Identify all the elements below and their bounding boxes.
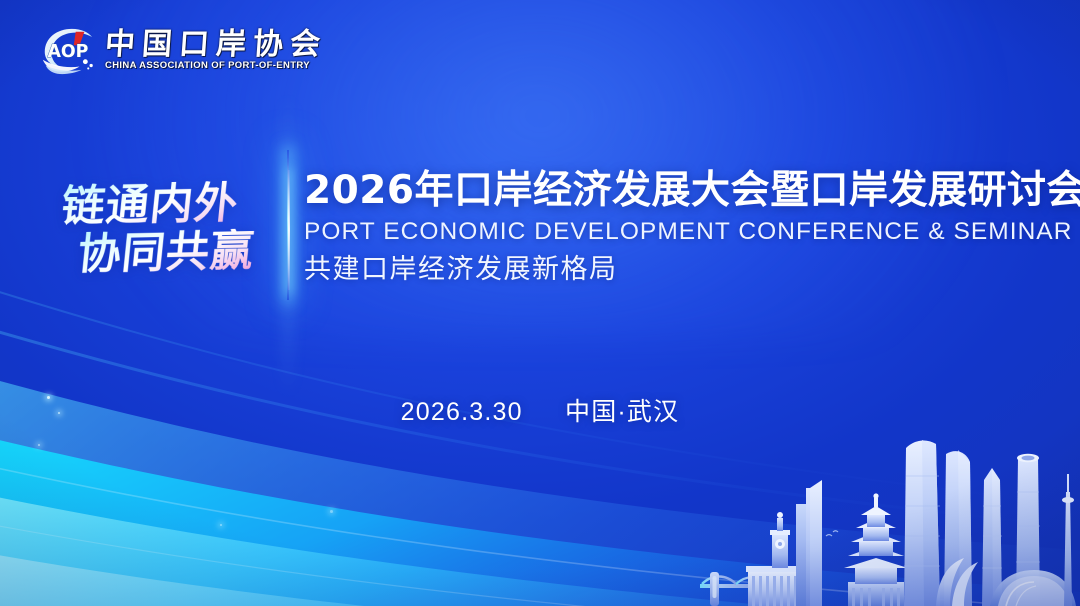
svg-text:AOP: AOP xyxy=(47,42,88,62)
slogan-line-1: 链通内外 xyxy=(59,179,279,230)
aop-wave-logo-icon: AOP xyxy=(38,24,96,76)
calligraphy-slogan: 链通内外 协同共赢 xyxy=(62,168,277,290)
conference-title-en: PORT ECONOMIC DEVELOPMENT CONFERENCE & S… xyxy=(304,217,1034,248)
headline-block: 2026年口岸经济发展大会暨口岸发展研讨会 PORT ECONOMIC DEVE… xyxy=(304,170,1034,286)
vignette-overlay xyxy=(0,0,1080,606)
conference-subtitle-cn: 共建口岸经济发展新格局 xyxy=(304,254,1034,286)
event-meta: 2026.3.30 中国·武汉 xyxy=(0,392,1080,428)
vertical-divider xyxy=(288,170,290,290)
event-location: 中国·武汉 xyxy=(565,398,679,426)
sparkle xyxy=(330,510,333,513)
conference-title-cn: 2026年口岸经济发展大会暨口岸发展研讨会 xyxy=(304,170,1034,213)
sparkle xyxy=(38,444,40,446)
logo-org-name-en: CHINA ASSOCIATION OF PORT-OF-ENTRY xyxy=(105,61,327,71)
conference-banner: AOP 中国口岸协会 CHINA ASSOCIATION OF PORT-OF-… xyxy=(0,0,1080,606)
slogan-line-2: 协同共赢 xyxy=(75,228,279,279)
event-date: 2026.3.30 xyxy=(401,398,523,426)
sparkle xyxy=(220,524,222,526)
association-logo: AOP 中国口岸协会 CHINA ASSOCIATION OF PORT-OF-… xyxy=(38,24,327,76)
logo-org-name-cn: 中国口岸协会 xyxy=(104,30,328,60)
